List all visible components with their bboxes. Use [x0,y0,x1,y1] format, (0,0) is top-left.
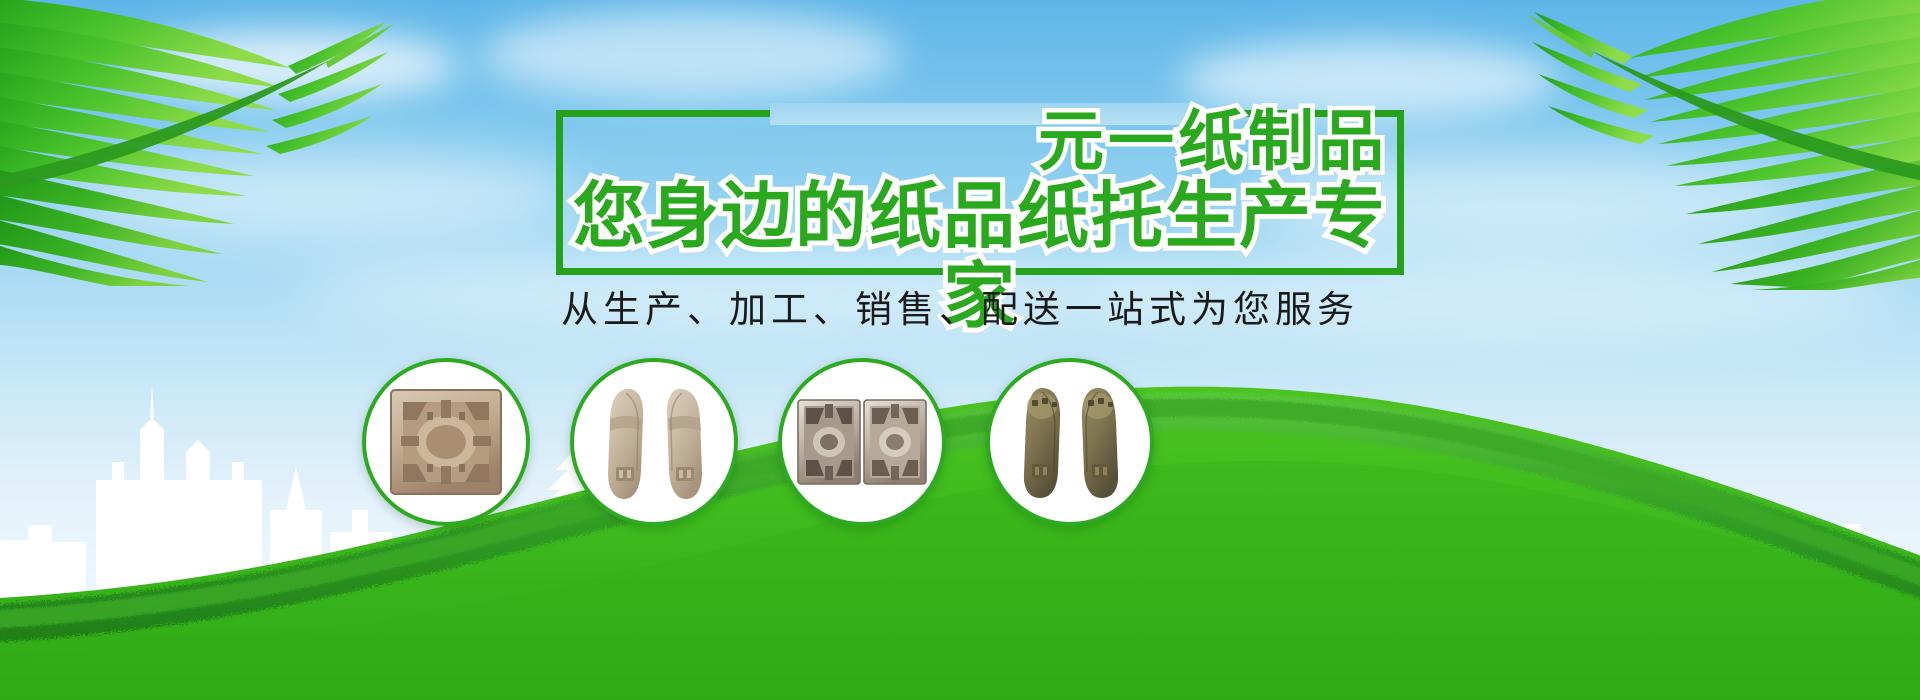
product-circle-list [0,0,1920,700]
product-circle-molded-pulp-dark-shoes[interactable] [986,358,1154,526]
product-circle-molded-pulp-shoe-inserts[interactable] [570,358,738,526]
pulp-tray-icon [387,386,505,498]
promo-banner: 元一纸制品 您身边的纸品纸托生产专家 从生产、加工、销售、配送一站式为您服务 [0,0,1920,700]
pulp-dark-shoe-icon [1012,380,1128,504]
pulp-corner-icon [796,394,928,490]
product-circle-molded-pulp-square-tray[interactable] [362,358,530,526]
product-circle-molded-pulp-corner-pads[interactable] [778,358,946,526]
pulp-shoe-icon [596,379,712,505]
